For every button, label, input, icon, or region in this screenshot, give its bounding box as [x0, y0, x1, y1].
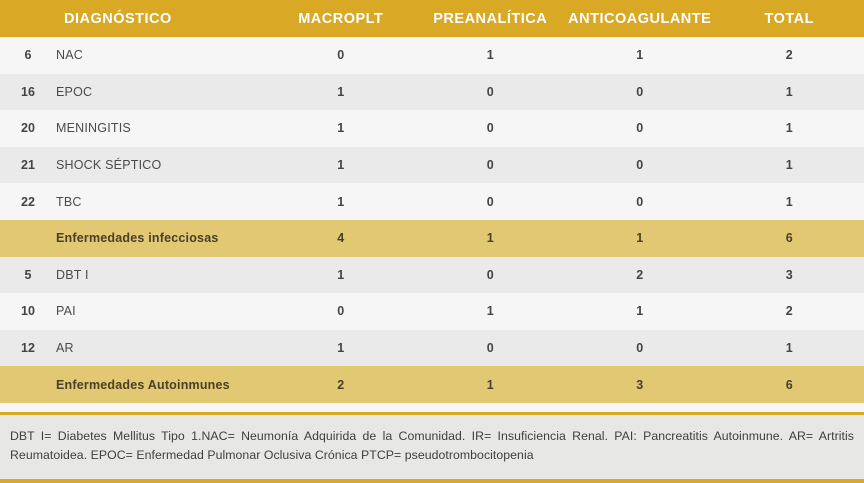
cell-total: 1 — [715, 341, 864, 355]
cell-macroplt: 0 — [266, 48, 416, 62]
cell-macroplt: 4 — [266, 231, 416, 245]
table-row: 6NAC0112 — [0, 37, 864, 74]
table-body: 6NAC011216EPOC100120MENINGITIS100121SHOC… — [0, 37, 864, 412]
table-row: 5DBT I1023 — [0, 257, 864, 294]
table-row: 16EPOC1001 — [0, 74, 864, 111]
cell-macroplt: 2 — [266, 378, 416, 392]
cell-anticoagulante: 1 — [565, 48, 715, 62]
header-diagnostico: DIAGNÓSTICO — [56, 11, 266, 27]
cell-preanalitica: 0 — [416, 158, 566, 172]
cell-total: 6 — [715, 231, 864, 245]
cell-preanalitica: 0 — [416, 121, 566, 135]
cell-index: 12 — [0, 341, 56, 355]
header-macroplt: MACROPLT — [266, 11, 416, 27]
table-row: 21SHOCK SÉPTICO1001 — [0, 147, 864, 184]
table-footnote: DBT I= Diabetes Mellitus Tipo 1.NAC= Neu… — [0, 412, 864, 483]
cell-anticoagulante: 1 — [565, 304, 715, 318]
table-row: 12AR1001 — [0, 330, 864, 367]
cell-preanalitica: 0 — [416, 341, 566, 355]
cell-diagnostico: PAI — [56, 304, 266, 318]
cell-preanalitica: 0 — [416, 85, 566, 99]
cell-macroplt: 1 — [266, 268, 416, 282]
cell-diagnostico: NAC — [56, 48, 266, 62]
cell-anticoagulante: 2 — [565, 268, 715, 282]
cell-anticoagulante: 0 — [565, 85, 715, 99]
cell-preanalitica: 1 — [416, 231, 566, 245]
cell-index: 20 — [0, 121, 56, 135]
cell-diagnostico: DBT I — [56, 268, 266, 282]
cell-preanalitica: 0 — [416, 195, 566, 209]
table-row: 20MENINGITIS1001 — [0, 110, 864, 147]
cell-macroplt: 1 — [266, 195, 416, 209]
cell-anticoagulante: 3 — [565, 378, 715, 392]
table-subtotal-row: Enfermedades Autoinmunes2136 — [0, 366, 864, 403]
cell-diagnostico: TBC — [56, 195, 266, 209]
diagnosis-table: DIAGNÓSTICO MACROPLT PREANALÍTICA ANTICO… — [0, 0, 864, 483]
cell-index: 5 — [0, 268, 56, 282]
table-subtotal-row: Enfermedades infecciosas4116 — [0, 220, 864, 257]
cell-diagnostico: Enfermedades Autoinmunes — [56, 378, 266, 392]
cell-preanalitica: 1 — [416, 48, 566, 62]
header-total: TOTAL — [715, 11, 864, 27]
cell-macroplt: 1 — [266, 158, 416, 172]
cell-anticoagulante: 0 — [565, 158, 715, 172]
cell-diagnostico: EPOC — [56, 85, 266, 99]
cell-preanalitica: 0 — [416, 268, 566, 282]
cell-total: 2 — [715, 304, 864, 318]
cell-anticoagulante: 0 — [565, 195, 715, 209]
cell-diagnostico: Enfermedades infecciosas — [56, 231, 266, 245]
cell-diagnostico: MENINGITIS — [56, 121, 266, 135]
table-row: 10PAI0112 — [0, 293, 864, 330]
table-row: 22TBC1001 — [0, 183, 864, 220]
cell-index: 16 — [0, 85, 56, 99]
cell-total: 3 — [715, 268, 864, 282]
cell-index: 6 — [0, 48, 56, 62]
cell-total: 1 — [715, 195, 864, 209]
header-anticoagulante: ANTICOAGULANTE — [565, 11, 715, 27]
cell-diagnostico: AR — [56, 341, 266, 355]
cell-total: 1 — [715, 85, 864, 99]
cell-total: 6 — [715, 378, 864, 392]
cell-macroplt: 0 — [266, 304, 416, 318]
cell-diagnostico: SHOCK SÉPTICO — [56, 158, 266, 172]
cell-anticoagulante: 0 — [565, 341, 715, 355]
cell-anticoagulante: 0 — [565, 121, 715, 135]
cell-preanalitica: 1 — [416, 378, 566, 392]
cell-total: 1 — [715, 121, 864, 135]
table-header-row: DIAGNÓSTICO MACROPLT PREANALÍTICA ANTICO… — [0, 0, 864, 37]
cell-anticoagulante: 1 — [565, 231, 715, 245]
cell-preanalitica: 1 — [416, 304, 566, 318]
cell-total: 1 — [715, 158, 864, 172]
cell-index: 22 — [0, 195, 56, 209]
cell-index: 21 — [0, 158, 56, 172]
cell-total: 2 — [715, 48, 864, 62]
cell-macroplt: 1 — [266, 341, 416, 355]
cell-index: 10 — [0, 304, 56, 318]
header-preanalitica: PREANALÍTICA — [416, 11, 566, 27]
footnote-text: DBT I= Diabetes Mellitus Tipo 1.NAC= Neu… — [10, 427, 854, 465]
cell-macroplt: 1 — [266, 85, 416, 99]
cell-macroplt: 1 — [266, 121, 416, 135]
